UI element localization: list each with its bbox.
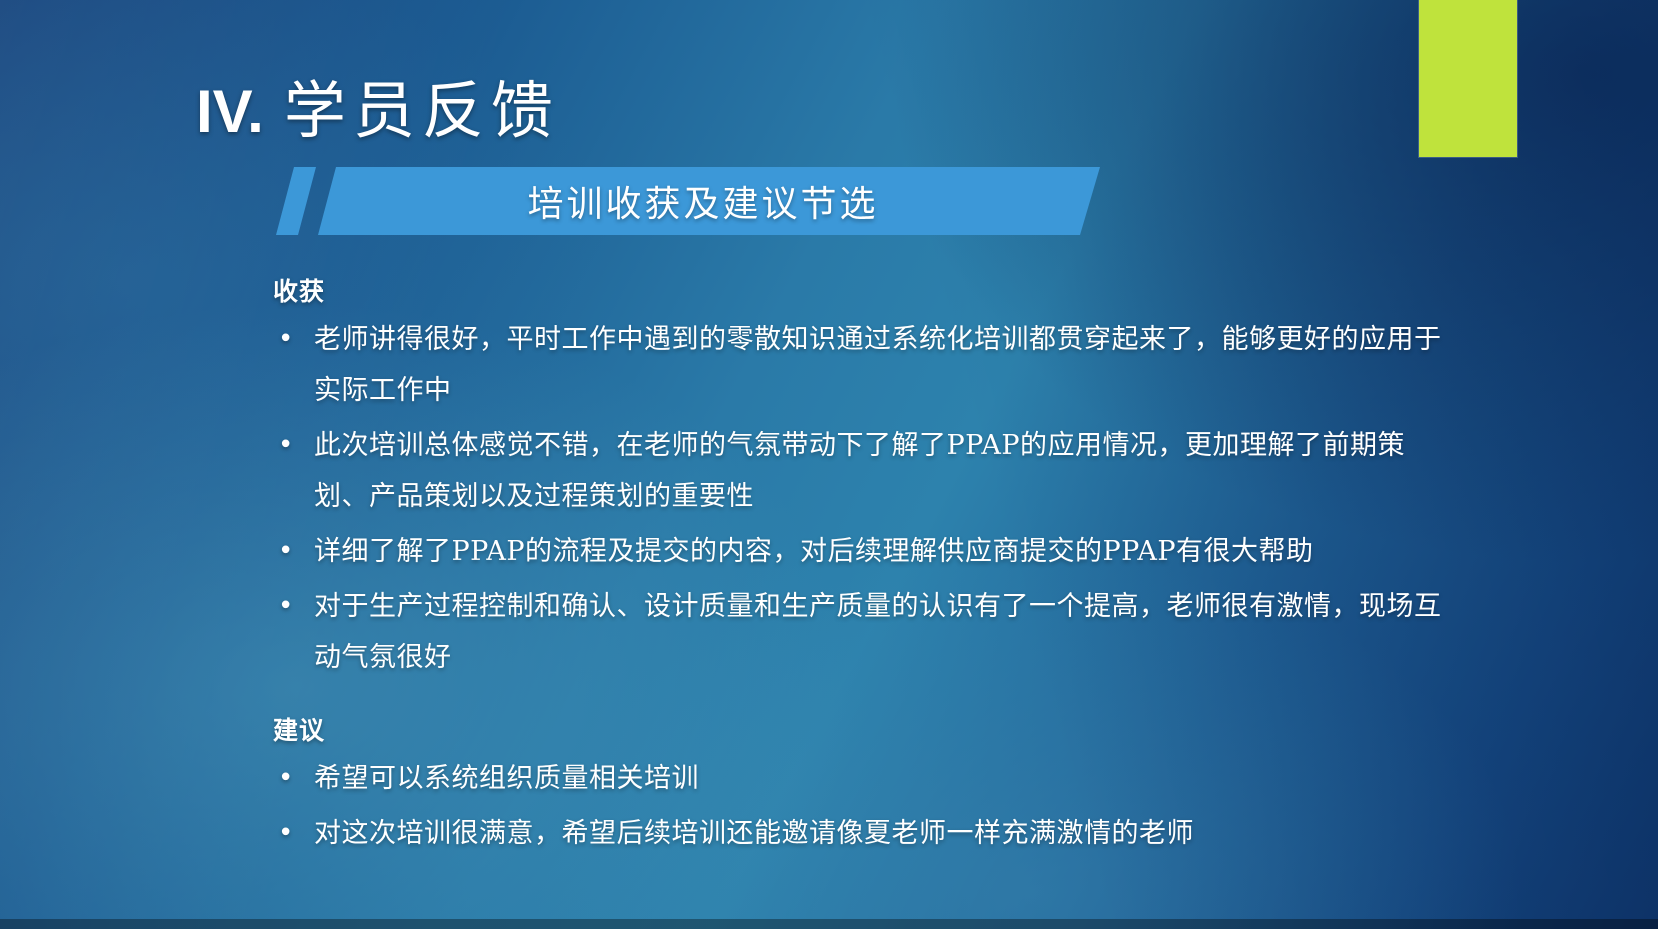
list-item-text: 详细了解了PPAP的流程及提交的内容，对后续理解供应商提交的PPAP有很大帮助 [314,536,1314,567]
page-title: IV. 学员反馈 [196,60,560,150]
bullet-icon: • [278,753,288,804]
banner-label: 培训收获及建议节选 [527,175,878,227]
green-accent-block [1419,0,1517,157]
presentation-slide: IV. 学员反馈 培训收获及建议节选 收获 • 老师讲得很好，平时工作中遇到的零… [0,0,1658,929]
list-item-text: 老师讲得很好，平时工作中遇到的零散知识通过系统化培训都贯穿起来了，能够更好的应用… [314,324,1442,406]
list-item-text: 此次培训总体感觉不错，在老师的气氛带动下了解了PPAP的应用情况，更加理解了前期… [314,430,1405,512]
section-header-suggestions: 建议 [273,711,1450,747]
list-item: • 对这次培训很满意，希望后续培训还能邀请像夏老师一样充满激情的老师 [270,808,1450,859]
slide-content: 收获 • 老师讲得很好，平时工作中遇到的零散知识通过系统化培训都贯穿起来了，能够… [270,272,1450,863]
bullet-icon: • [278,581,288,632]
suggestions-bullet-list: • 希望可以系统组织质量相关培训 • 对这次培训很满意，希望后续培训还能邀请像夏… [270,753,1450,859]
title-numeral: IV. [196,77,264,146]
title-text: 学员反馈 [284,60,560,150]
gains-bullet-list: • 老师讲得很好，平时工作中遇到的零散知识通过系统化培训都贯穿起来了，能够更好的… [270,314,1450,683]
list-item: • 对于生产过程控制和确认、设计质量和生产质量的认识有了一个提高，老师很有激情，… [270,581,1450,683]
bullet-icon: • [278,314,288,365]
list-item-text: 希望可以系统组织质量相关培训 [314,763,699,794]
bullet-icon: • [278,420,288,471]
bullet-icon: • [278,526,288,577]
list-item-text: 对这次培训很满意，希望后续培训还能邀请像夏老师一样充满激情的老师 [314,818,1194,849]
list-item: • 此次培训总体感觉不错，在老师的气氛带动下了解了PPAP的应用情况，更加理解了… [270,420,1450,522]
banner-body: 培训收获及建议节选 [318,167,1096,235]
list-item: • 希望可以系统组织质量相关培训 [270,753,1450,804]
list-item-text: 对于生产过程控制和确认、设计质量和生产质量的认识有了一个提高，老师很有激情，现场… [314,591,1442,673]
list-item: • 详细了解了PPAP的流程及提交的内容，对后续理解供应商提交的PPAP有很大帮… [270,526,1450,577]
list-item: • 老师讲得很好，平时工作中遇到的零散知识通过系统化培训都贯穿起来了，能够更好的… [270,314,1450,416]
banner-left-tip [276,167,316,235]
section-banner: 培训收获及建议节选 [276,167,1096,235]
section-header-gains: 收获 [273,272,1450,308]
bullet-icon: • [278,808,288,859]
